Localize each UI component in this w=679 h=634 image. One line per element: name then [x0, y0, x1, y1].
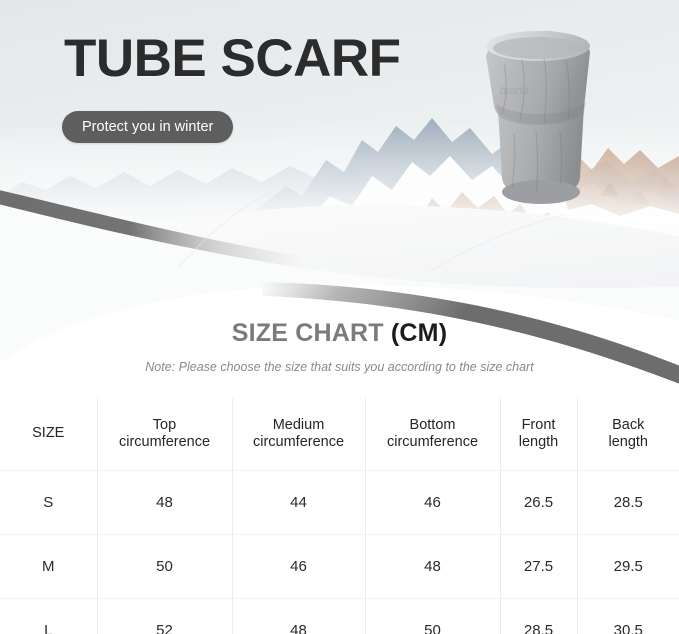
scarf-rim-inner — [493, 37, 583, 59]
cell-bottom: 50 — [365, 599, 500, 634]
size-chart-title-main: SIZE CHART — [232, 319, 391, 347]
cell-size: S — [0, 471, 97, 535]
scarf-brand-mark: brand — [500, 85, 529, 97]
hero-banner: brand TUBE SCARF Protect you in winter — [0, 0, 679, 300]
cell-front: 26.5 — [500, 471, 577, 535]
column-header-back-length: Back length — [577, 398, 679, 471]
cell-front: 28.5 — [500, 599, 577, 634]
cell-medium: 46 — [232, 535, 365, 599]
table-row: S 48 44 46 26.5 28.5 — [0, 471, 679, 535]
cell-top: 48 — [97, 471, 232, 535]
size-chart-title: SIZE CHART (CM) — [0, 319, 679, 348]
column-header-medium-circumference: Medium circumference — [232, 398, 365, 471]
column-header-medium-line1: Medium — [233, 417, 365, 434]
size-chart-table: SIZE Top circumference Medium circumfere… — [0, 398, 679, 634]
column-header-top-line2: circumference — [98, 434, 232, 451]
cell-top: 52 — [97, 599, 232, 634]
cell-top: 50 — [97, 535, 232, 599]
tube-scarf-product-image: brand — [470, 22, 600, 207]
column-header-bottom-circumference: Bottom circumference — [365, 398, 500, 471]
column-header-medium-line2: circumference — [233, 434, 365, 451]
product-size-chart-page: brand TUBE SCARF Protect you in winter — [0, 0, 679, 634]
cell-bottom: 46 — [365, 471, 500, 535]
tagline-badge: Protect you in winter — [62, 111, 233, 143]
cell-medium: 44 — [232, 471, 365, 535]
column-header-front-line2: length — [501, 434, 577, 451]
size-chart-section: SIZE CHART (CM) Note: Please choose the … — [0, 300, 679, 634]
cell-bottom: 48 — [365, 535, 500, 599]
cell-back: 29.5 — [577, 535, 679, 599]
cell-size: M — [0, 535, 97, 599]
column-header-front-length: Front length — [500, 398, 577, 471]
column-header-size-line1: SIZE — [0, 425, 97, 442]
column-header-back-line2: length — [578, 434, 679, 451]
cell-size: L — [0, 599, 97, 634]
column-header-size: SIZE — [0, 398, 97, 471]
size-chart-note: Note: Please choose the size that suits … — [0, 360, 679, 374]
column-header-bottom-line1: Bottom — [366, 417, 500, 434]
table-row: L 52 48 50 28.5 30.5 — [0, 599, 679, 634]
column-header-front-line1: Front — [501, 417, 577, 434]
size-chart-title-unit: (CM) — [391, 319, 447, 347]
column-header-top-line1: Top — [98, 417, 232, 434]
cell-back: 30.5 — [577, 599, 679, 634]
column-header-top-circumference: Top circumference — [97, 398, 232, 471]
cell-medium: 48 — [232, 599, 365, 634]
column-header-bottom-line2: circumference — [366, 434, 500, 451]
page-title: TUBE SCARF — [64, 32, 401, 85]
tube-scarf-icon: brand — [470, 22, 600, 207]
table-row: M 50 46 48 27.5 29.5 — [0, 535, 679, 599]
cell-back: 28.5 — [577, 471, 679, 535]
column-header-back-line1: Back — [578, 417, 679, 434]
cell-front: 27.5 — [500, 535, 577, 599]
table-header-row: SIZE Top circumference Medium circumfere… — [0, 398, 679, 471]
scarf-bottom-rim — [502, 180, 580, 204]
